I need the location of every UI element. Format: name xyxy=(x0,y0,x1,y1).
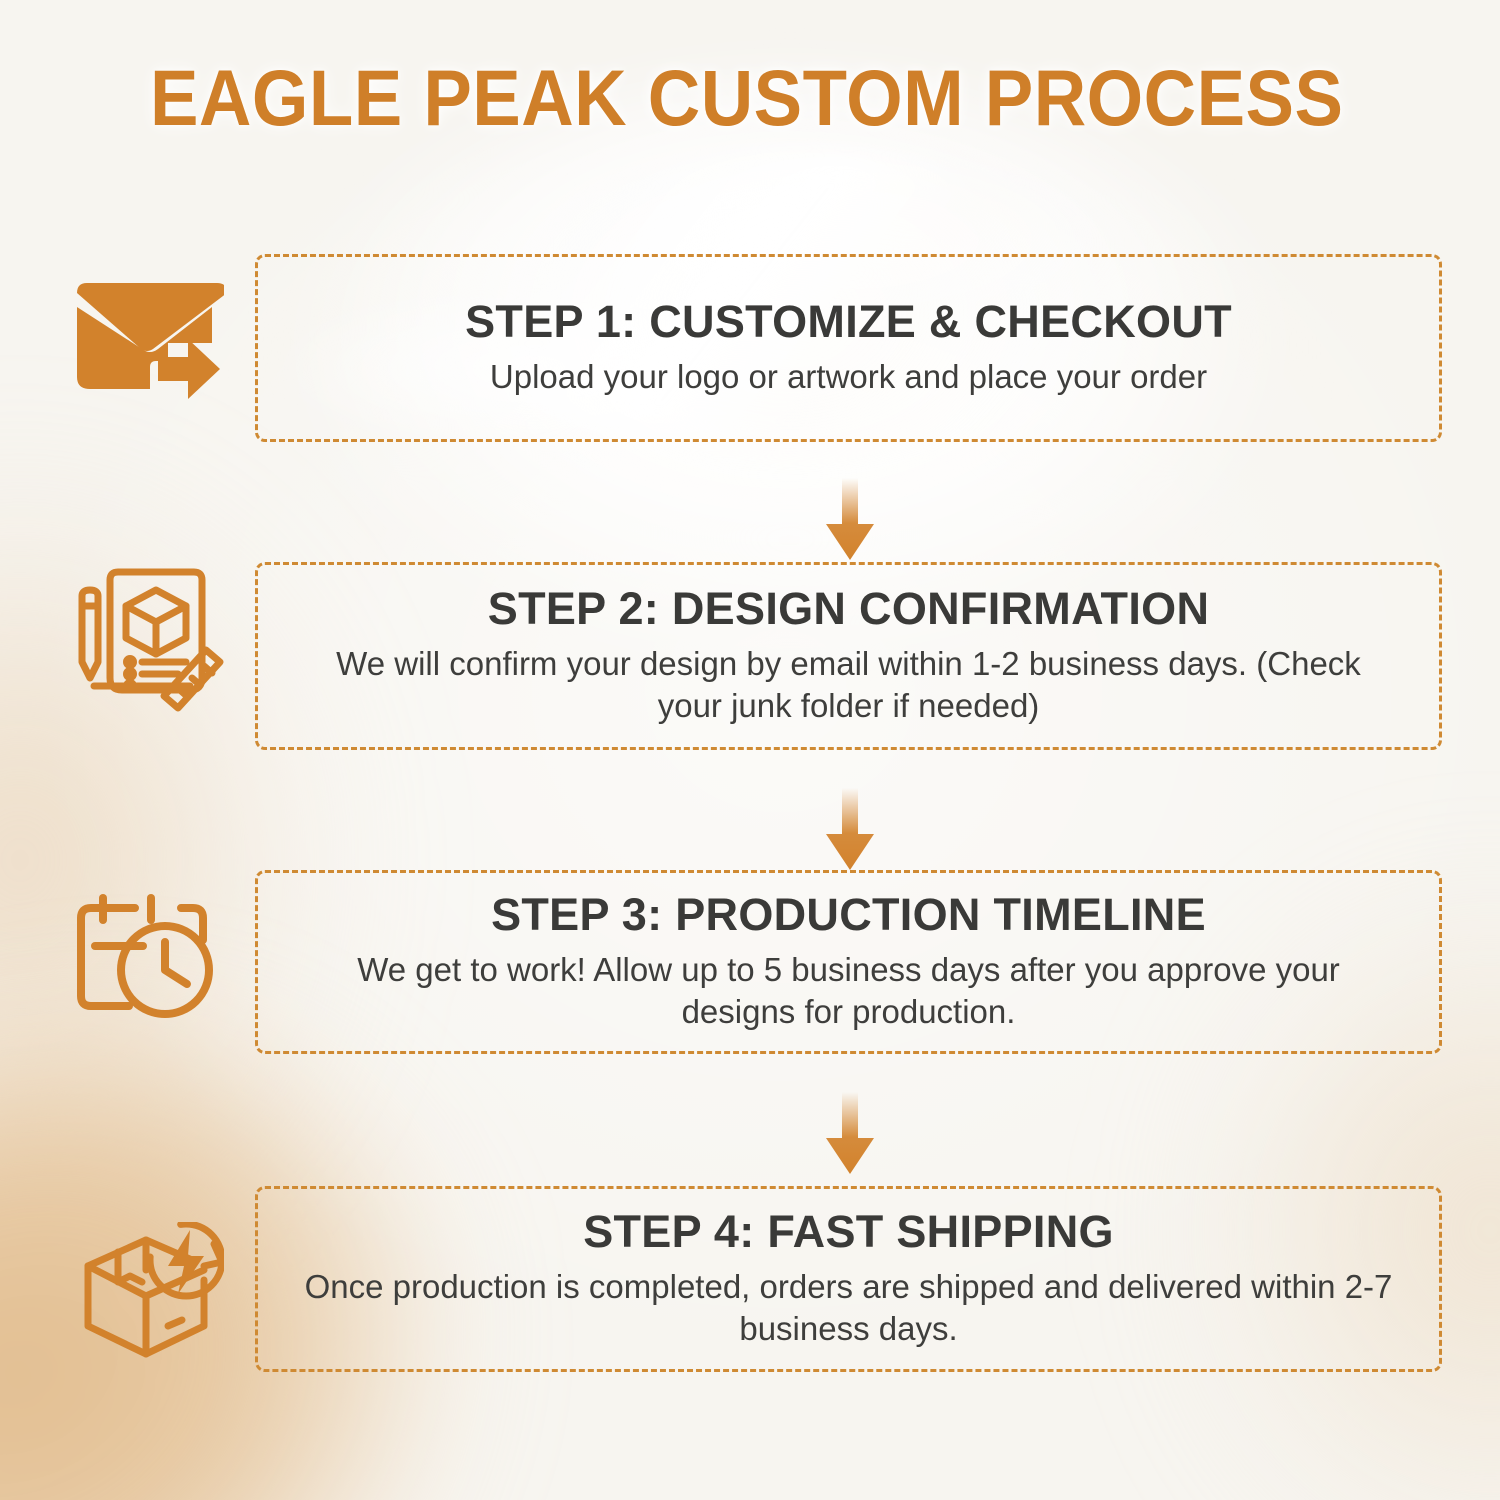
calendar-clock-icon xyxy=(58,890,238,1022)
step-body-4: Once production is completed, orders are… xyxy=(304,1266,1394,1350)
step-box-4: STEP 4: FAST SHIPPING Once production is… xyxy=(255,1186,1442,1372)
step-body-3: We get to work! Allow up to 5 business d… xyxy=(304,949,1394,1033)
step-body-2: We will confirm your design by email wit… xyxy=(304,643,1394,727)
step-box-3: STEP 3: PRODUCTION TIMELINE We get to wo… xyxy=(255,870,1442,1054)
fast-shipping-box-icon xyxy=(58,1222,238,1360)
step-box-1: STEP 1: CUSTOMIZE & CHECKOUT Upload your… xyxy=(255,254,1442,442)
step-heading-3: STEP 3: PRODUCTION TIMELINE xyxy=(491,891,1206,940)
design-document-icon xyxy=(58,566,238,712)
arrow-step1-to-step2 xyxy=(822,478,878,562)
step-box-2: STEP 2: DESIGN CONFIRMATION We will conf… xyxy=(255,562,1442,750)
envelope-send-icon xyxy=(58,278,238,408)
step-heading-1: STEP 1: CUSTOMIZE & CHECKOUT xyxy=(465,298,1232,347)
step-heading-2: STEP 2: DESIGN CONFIRMATION xyxy=(488,585,1210,634)
step-body-1: Upload your logo or artwork and place yo… xyxy=(490,356,1207,398)
arrow-step3-to-step4 xyxy=(822,1092,878,1176)
step-heading-4: STEP 4: FAST SHIPPING xyxy=(583,1208,1114,1257)
arrow-step2-to-step3 xyxy=(822,788,878,872)
page-title: EAGLE PEAK CUSTOM PROCESS xyxy=(150,52,1343,144)
